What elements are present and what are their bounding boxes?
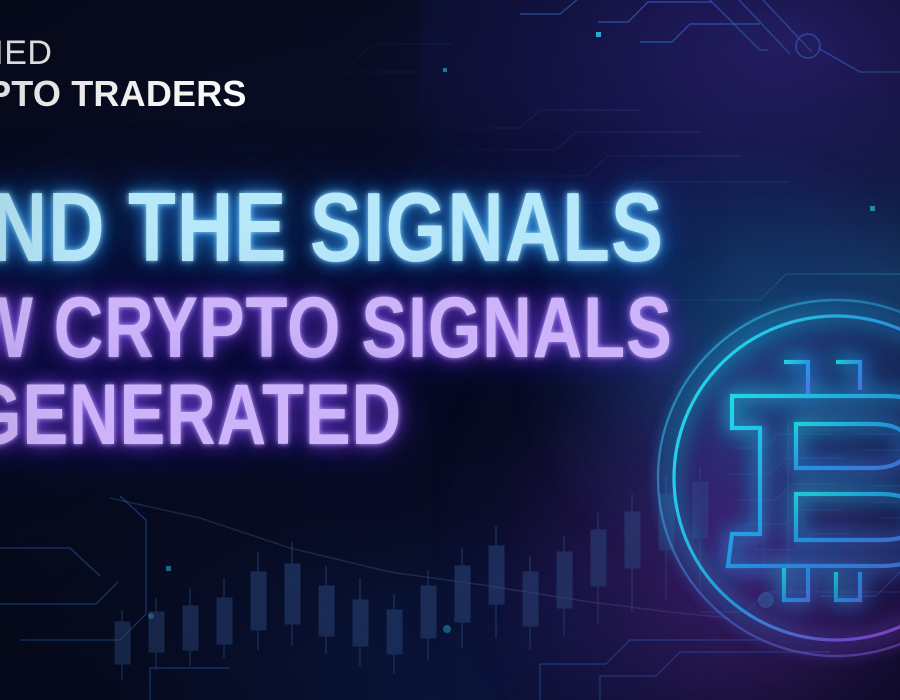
brand-line-verified: RIFIED — [0, 36, 247, 70]
headline-line-3: GENERATED — [0, 371, 673, 460]
hero-headline: IND THE SIGNALS W CRYPTO SIGNALS GENERAT… — [0, 178, 849, 461]
hero-banner: RIFIED RYPTO TRADERS IND THE SIGNALS W C… — [0, 0, 900, 700]
brand-lockup: RIFIED RYPTO TRADERS — [0, 36, 247, 112]
brand-line-crypto-traders: RYPTO TRADERS — [0, 76, 247, 112]
headline-line-2: W CRYPTO SIGNALS — [0, 284, 673, 373]
headline-line-1: IND THE SIGNALS — [0, 178, 673, 278]
